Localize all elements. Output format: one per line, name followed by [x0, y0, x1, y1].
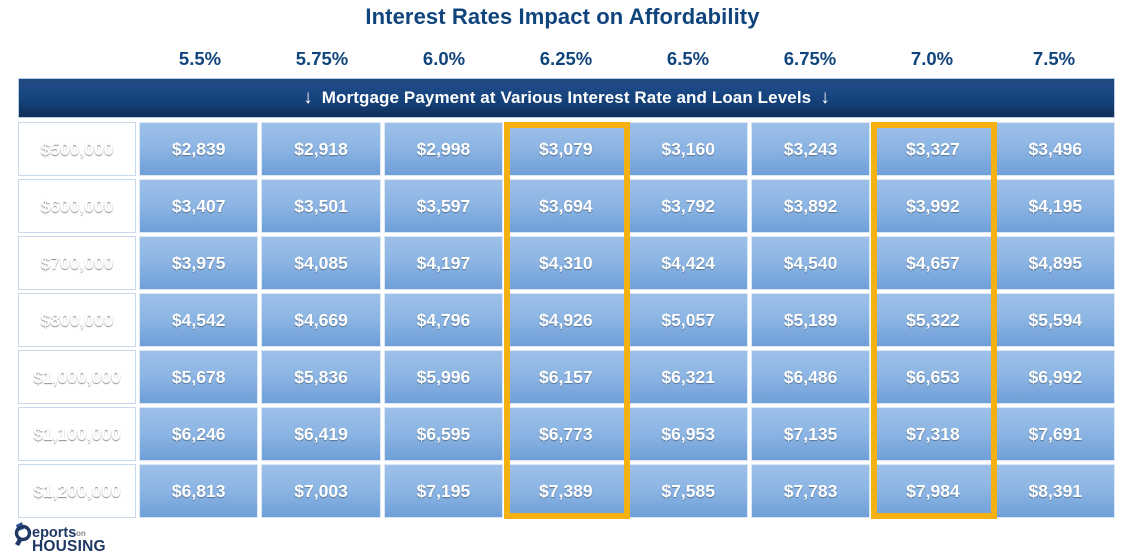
table-cell: $5,678 — [139, 350, 258, 404]
table-cell: $5,996 — [384, 350, 503, 404]
table-cell: $4,085 — [261, 236, 380, 290]
subtitle-banner: ↓ Mortgage Payment at Various Interest R… — [18, 78, 1115, 118]
table-cell: $4,540 — [751, 236, 870, 290]
table-cell: $2,918 — [261, 122, 380, 176]
svg-text:HOUSING: HOUSING — [32, 538, 106, 553]
down-arrow-left-icon: ↓ — [294, 88, 322, 107]
table-cell: $3,496 — [996, 122, 1115, 176]
table-cell: $7,135 — [751, 407, 870, 461]
table-cell: $8,391 — [996, 464, 1115, 518]
table-cell: $3,792 — [629, 179, 748, 233]
table-cell: $4,895 — [996, 236, 1115, 290]
table-cell: $7,003 — [261, 464, 380, 518]
row-header-loan-amount: $600,000 — [18, 179, 136, 233]
table-cell: $2,998 — [384, 122, 503, 176]
row-header-loan-amount: $500,000 — [18, 122, 136, 176]
rate-header-4: 6.5% — [627, 44, 749, 74]
table-cell: $7,585 — [629, 464, 748, 518]
logo-mark-icon: eports on HOUSING — [12, 521, 137, 553]
subtitle-banner-text: Mortgage Payment at Various Interest Rat… — [322, 88, 811, 108]
table-cell: $5,057 — [629, 293, 748, 347]
table-cell: $6,653 — [873, 350, 992, 404]
table-cell: $5,322 — [873, 293, 992, 347]
rate-header-3: 6.25% — [505, 44, 627, 74]
table-row: $1,100,000 $6,246 $6,419 $6,595 $6,773 $… — [18, 407, 1115, 461]
table-cell: $3,597 — [384, 179, 503, 233]
table-cell: $6,157 — [506, 350, 625, 404]
table-cell: $6,953 — [629, 407, 748, 461]
table-cell: $4,310 — [506, 236, 625, 290]
table-cell: $3,992 — [873, 179, 992, 233]
payment-matrix-table: $500,000 $2,839 $2,918 $2,998 $3,079 $3,… — [18, 122, 1115, 518]
row-header-loan-amount: $1,000,000 — [18, 350, 136, 404]
table-cell: $6,486 — [751, 350, 870, 404]
table-cell: $5,189 — [751, 293, 870, 347]
table-cell: $3,160 — [629, 122, 748, 176]
table-cell: $3,694 — [506, 179, 625, 233]
table-cell: $5,594 — [996, 293, 1115, 347]
table-row: $800,000 $4,542 $4,669 $4,796 $4,926 $5,… — [18, 293, 1115, 347]
table-cell: $6,246 — [139, 407, 258, 461]
table-row: $1,200,000 $6,813 $7,003 $7,195 $7,389 $… — [18, 464, 1115, 518]
row-header-loan-amount: $1,200,000 — [18, 464, 136, 518]
table-cell: $6,992 — [996, 350, 1115, 404]
rate-header-5: 6.75% — [749, 44, 871, 74]
table-cell: $4,197 — [384, 236, 503, 290]
table-row: $500,000 $2,839 $2,918 $2,998 $3,079 $3,… — [18, 122, 1115, 176]
table-cell: $6,321 — [629, 350, 748, 404]
table-cell: $7,691 — [996, 407, 1115, 461]
rate-header-corner-spacer — [18, 44, 139, 74]
row-header-loan-amount: $700,000 — [18, 236, 136, 290]
table-cell: $3,243 — [751, 122, 870, 176]
table-cell: $4,796 — [384, 293, 503, 347]
rate-header-row: 5.5% 5.75% 6.0% 6.25% 6.5% 6.75% 7.0% 7.… — [18, 44, 1115, 74]
table-row: $600,000 $3,407 $3,501 $3,597 $3,694 $3,… — [18, 179, 1115, 233]
table-cell: $6,595 — [384, 407, 503, 461]
table-cell: $6,419 — [261, 407, 380, 461]
table-cell: $3,501 — [261, 179, 380, 233]
row-header-loan-amount: $1,100,000 — [18, 407, 136, 461]
rate-header-2: 6.0% — [383, 44, 505, 74]
table-cell: $5,836 — [261, 350, 380, 404]
table-cell: $2,839 — [139, 122, 258, 176]
page-title: Interest Rates Impact on Affordability — [0, 0, 1125, 34]
table-cell: $3,975 — [139, 236, 258, 290]
rate-header-6: 7.0% — [871, 44, 993, 74]
table-cell: $4,424 — [629, 236, 748, 290]
table-cell: $7,984 — [873, 464, 992, 518]
rate-header-7: 7.5% — [993, 44, 1115, 74]
reports-on-housing-logo: eports on HOUSING — [12, 521, 137, 553]
table-cell: $4,657 — [873, 236, 992, 290]
table-cell: $7,389 — [506, 464, 625, 518]
table-cell: $4,195 — [996, 179, 1115, 233]
table-cell: $7,195 — [384, 464, 503, 518]
table-cell: $6,773 — [506, 407, 625, 461]
rate-header-0: 5.5% — [139, 44, 261, 74]
svg-text:on: on — [76, 529, 86, 538]
table-row: $1,000,000 $5,678 $5,836 $5,996 $6,157 $… — [18, 350, 1115, 404]
table-cell: $4,542 — [139, 293, 258, 347]
table-cell: $3,892 — [751, 179, 870, 233]
table-cell: $3,327 — [873, 122, 992, 176]
table-cell: $3,407 — [139, 179, 258, 233]
table-cell: $3,079 — [506, 122, 625, 176]
table-cell: $4,669 — [261, 293, 380, 347]
row-header-loan-amount: $800,000 — [18, 293, 136, 347]
table-cell: $7,783 — [751, 464, 870, 518]
table-cell: $6,813 — [139, 464, 258, 518]
table-cell: $4,926 — [506, 293, 625, 347]
table-row: $700,000 $3,975 $4,085 $4,197 $4,310 $4,… — [18, 236, 1115, 290]
down-arrow-right-icon: ↓ — [811, 88, 839, 107]
rate-header-1: 5.75% — [261, 44, 383, 74]
table-cell: $7,318 — [873, 407, 992, 461]
